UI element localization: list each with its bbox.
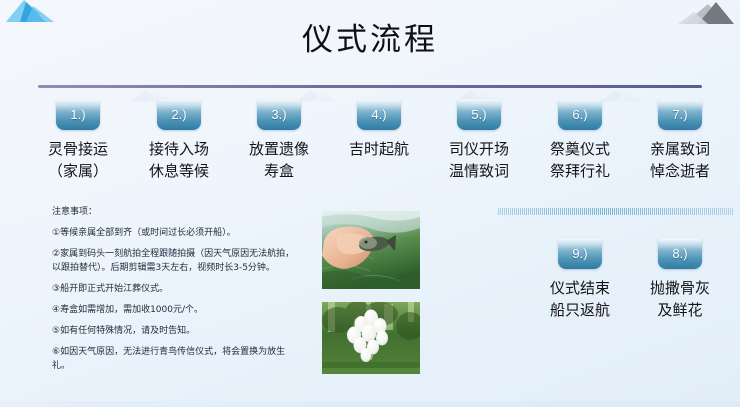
step-label-1-line2: （家属） [23, 160, 133, 182]
step-badge-5[interactable]: 5.) [457, 99, 501, 130]
step-badge-6[interactable]: 6.) [558, 99, 602, 130]
step-badge-4[interactable]: 4.) [357, 99, 401, 130]
step-badge-8[interactable]: 8.) [658, 238, 702, 269]
slide-header: 仪式流程 [0, 0, 740, 80]
step-label-4-line1: 吉时起航 [324, 138, 434, 160]
step-label-3-line2: 寿盒 [224, 160, 334, 182]
step-badge-2[interactable]: 2.) [157, 99, 201, 130]
step-badge-9[interactable]: 9.) [558, 238, 602, 269]
step-label-7-line1: 亲属致词 [625, 138, 735, 160]
photo-white-balloons-art [322, 302, 420, 374]
step-label-1: 灵骨接运 （家属） [23, 138, 133, 182]
step-label-8: 抛撒骨灰 及鲜花 [625, 277, 735, 321]
step-label-3-line1: 放置遗像 [224, 138, 334, 160]
step-label-9-line1: 仪式结束 [525, 277, 635, 299]
step-label-2-line1: 接待入场 [124, 138, 234, 160]
step-label-9: 仪式结束 船只返航 [525, 277, 635, 321]
step-label-9-line2: 船只返航 [525, 299, 635, 321]
notes-item-2: ②家属到码头一刻航拍全程跟随拍摄（因天气原因无法航拍，以跟拍替代）。后期剪辑需3… [52, 248, 300, 276]
step-label-5-line1: 司仪开场 [424, 138, 534, 160]
step-badge-1[interactable]: 1.) [56, 99, 100, 130]
step-label-3: 放置遗像 寿盒 [224, 138, 334, 182]
step-badge-3[interactable]: 3.) [257, 99, 301, 130]
step-label-4: 吉时起航 [324, 138, 434, 160]
step-label-6-line2: 祭拜行礼 [525, 160, 635, 182]
notes-item-4: ④寿盒如需增加，需加收1000元/个。 [52, 304, 300, 318]
step-label-2: 接待入场 休息等候 [124, 138, 234, 182]
step-label-7: 亲属致词 悼念逝者 [625, 138, 735, 182]
notes-block: 注意事项： ①等候亲属全部到齐（或时间过长必须开船）。 ②家属到码头一刻航拍全程… [52, 206, 300, 380]
page-title: 仪式流程 [0, 14, 740, 59]
bottom-accent-bar [0, 401, 740, 407]
slide-root: 仪式流程 1.) 2.) 3.) 4.) 5.) 6.) 7.) 灵骨接运 （家… [0, 0, 740, 407]
step-label-8-line1: 抛撒骨灰 [625, 277, 735, 299]
watermark-mountain-icon [600, 88, 646, 102]
step-label-8-line2: 及鲜花 [625, 299, 735, 321]
step-label-2-line2: 休息等候 [124, 160, 234, 182]
notes-item-6: ⑥如因天气原因，无法进行青鸟传信仪式，将会置换为放生礼。 [52, 346, 300, 374]
step-label-7-line2: 悼念逝者 [625, 160, 735, 182]
notes-heading: 注意事项： [52, 206, 300, 220]
step-label-6: 祭奠仪式 祭拜行礼 [525, 138, 635, 182]
photo-fish-release [322, 211, 420, 289]
step-label-5-line2: 温情致词 [424, 160, 534, 182]
photo-fish-release-art [322, 211, 420, 289]
watermark-mountain-icon [295, 88, 341, 102]
notes-item-5: ⑤如有任何特殊情况，请及时告知。 [52, 325, 300, 339]
step-badge-7[interactable]: 7.) [658, 99, 702, 130]
photo-white-balloons [322, 302, 420, 374]
notes-item-1: ①等候亲属全部到齐（或时间过长必须开船）。 [52, 227, 300, 241]
step-label-6-line1: 祭奠仪式 [525, 138, 635, 160]
stripe-divider [498, 208, 733, 215]
notes-item-3: ③船开即正式开始江葬仪式。 [52, 283, 300, 297]
step-label-5: 司仪开场 温情致词 [424, 138, 534, 182]
step-label-1-line1: 灵骨接运 [23, 138, 133, 160]
